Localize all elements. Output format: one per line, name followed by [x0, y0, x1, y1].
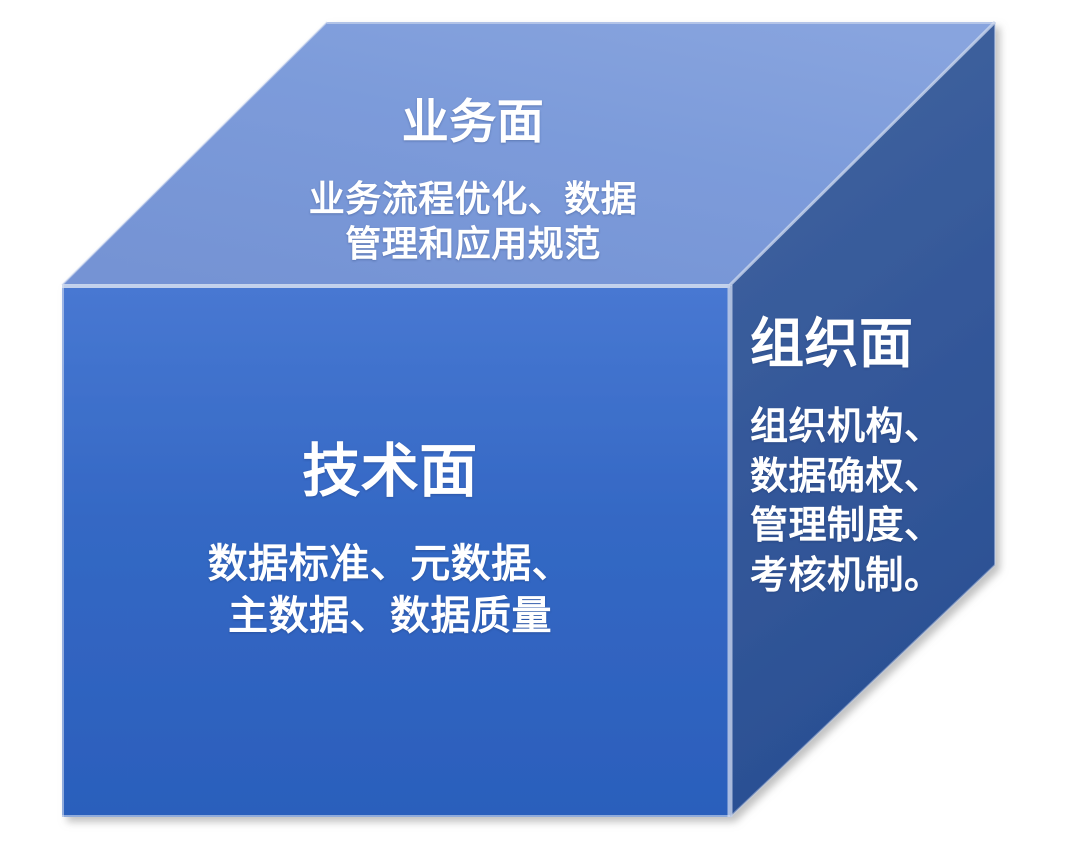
front-face-description: 数据标准、元数据、 主数据、数据质量: [120, 538, 660, 642]
right-face-description: 组织机构、 数据确权、 管理制度、 考核机制。: [750, 403, 980, 601]
right-face-text-group: 组织面 组织机构、 数据确权、 管理制度、 考核机制。: [750, 296, 980, 620]
right-face-title: 组织面: [750, 315, 980, 373]
top-face-description: 业务流程优化、数据 管理和应用规范: [248, 176, 698, 267]
cube-diagram: 业务面 业务流程优化、数据 管理和应用规范 技术面 数据标准、元数据、 主数据、…: [0, 0, 1080, 858]
front-face-title: 技术面: [120, 441, 660, 504]
top-face-text-group: 业务面 业务流程优化、数据 管理和应用规范: [248, 78, 698, 285]
front-face-text-group: 技术面 数据标准、元数据、 主数据、数据质量: [120, 422, 660, 660]
top-face-title: 业务面: [248, 97, 698, 148]
